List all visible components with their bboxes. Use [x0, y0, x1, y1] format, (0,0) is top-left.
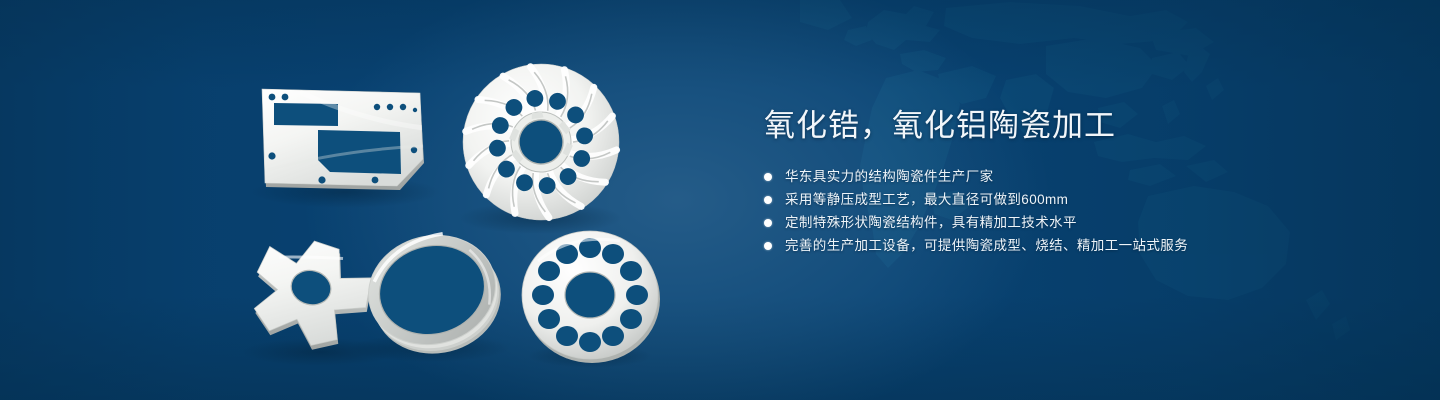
- ceramic-impeller-shape: [453, 54, 629, 230]
- feature-text: 采用等静压成型工艺，最大直径可做到600mm: [785, 192, 1068, 207]
- product-collage: [0, 0, 720, 400]
- feature-list-item: 定制特殊形状陶瓷结构件，具有精加工技术水平: [764, 216, 1384, 230]
- bullet-dot-icon: [764, 242, 772, 250]
- banner-copy: 氧化锆，氧化铝陶瓷加工 华东具实力的结构陶瓷件生产厂家 采用等静压成型工艺，最大…: [764, 104, 1384, 262]
- bullet-dot-icon: [764, 173, 772, 181]
- feature-list-item: 完善的生产加工设备，可提供陶瓷成型、烧结、精加工一站式服务: [764, 239, 1384, 253]
- feature-text: 定制特殊形状陶瓷结构件，具有精加工技术水平: [785, 215, 1077, 230]
- ceramic-mounting-plate-shape: [262, 89, 424, 190]
- bullet-dot-icon: [764, 219, 772, 227]
- hero-banner: 氧化锆，氧化铝陶瓷加工 华东具实力的结构陶瓷件生产厂家 采用等静压成型工艺，最大…: [0, 0, 1440, 400]
- feature-list-item: 采用等静压成型工艺，最大直径可做到600mm: [764, 193, 1384, 207]
- ceramic-perforated-disc-shape: [522, 231, 660, 363]
- feature-text: 华东具实力的结构陶瓷件生产厂家: [785, 169, 994, 184]
- feature-text: 完善的生产加工设备，可提供陶瓷成型、烧结、精加工一站式服务: [785, 238, 1188, 253]
- feature-list: 华东具实力的结构陶瓷件生产厂家 采用等静压成型工艺，最大直径可做到600mm 定…: [764, 170, 1384, 253]
- bullet-dot-icon: [764, 196, 772, 204]
- banner-headline: 氧化锆，氧化铝陶瓷加工: [764, 104, 1384, 148]
- feature-list-item: 华东具实力的结构陶瓷件生产厂家: [764, 170, 1384, 184]
